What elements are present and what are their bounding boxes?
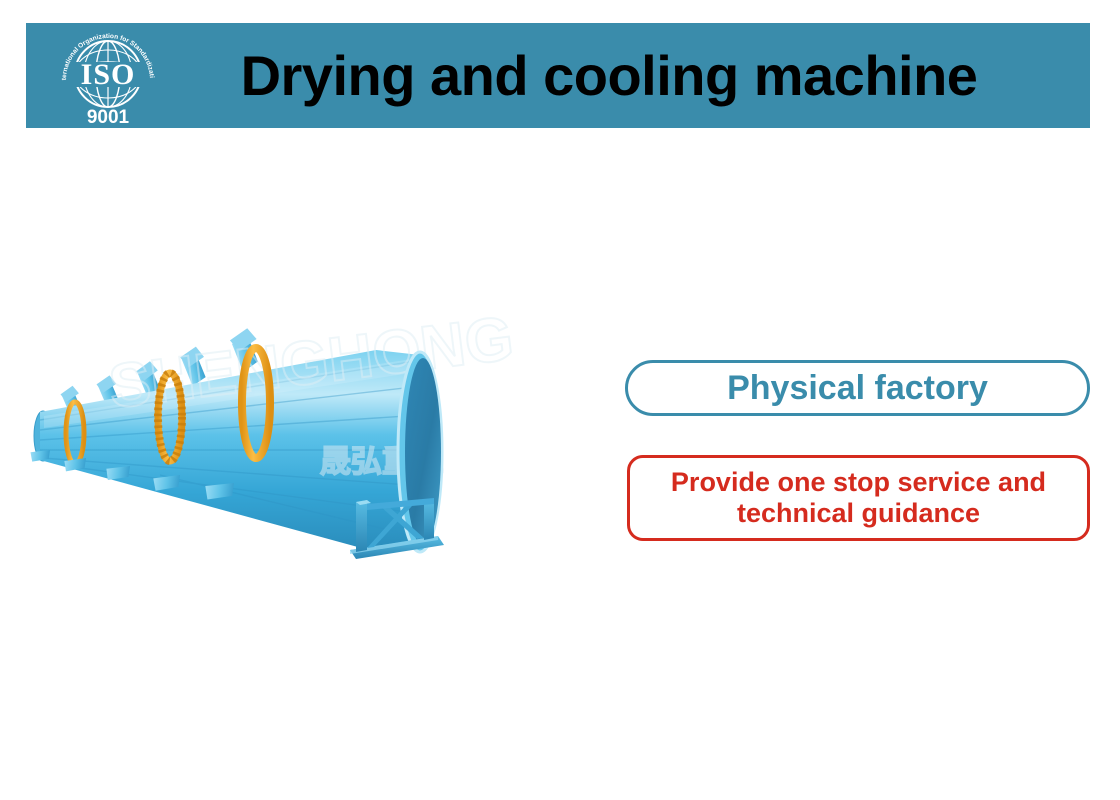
product-photo: SHENGHONG 晟弘重工 (20, 300, 600, 600)
page-title: Drying and cooling machine (162, 48, 1090, 104)
physical-factory-badge[interactable]: Physical factory (625, 360, 1090, 416)
service-note-box[interactable]: Provide one stop service and technical g… (627, 455, 1090, 541)
service-note-line-2: technical guidance (737, 498, 980, 528)
iso-9001-logo: ISO International Organization for Stand… (54, 24, 162, 128)
svg-text:ISO: ISO (81, 58, 136, 91)
svg-text:9001: 9001 (87, 107, 130, 128)
physical-factory-label: Physical factory (727, 371, 988, 405)
service-note-text: Provide one stop service and technical g… (671, 467, 1046, 530)
service-note-line-1: Provide one stop service and (671, 467, 1046, 497)
header-banner: ISO International Organization for Stand… (26, 23, 1090, 128)
